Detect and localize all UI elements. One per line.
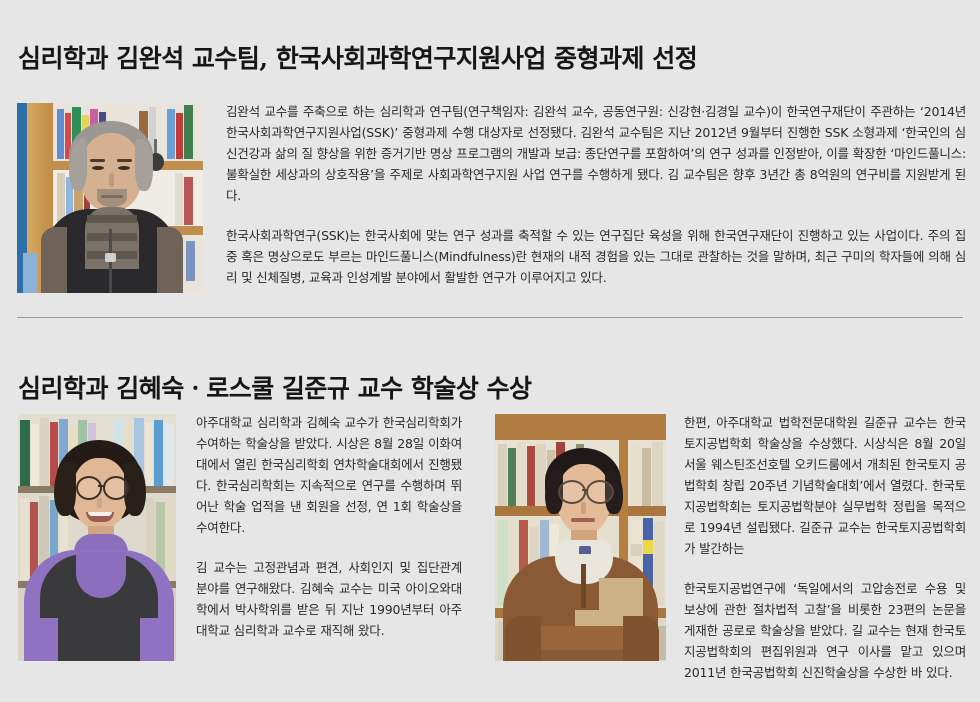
article-2-right-paragraph-2: 한국토지공법연구에 ‘독일에서의 고압송전로 수용 및 보상에 관한 절차법적 … bbox=[684, 578, 966, 683]
article-1-headline: 심리학과 김완석 교수팀, 한국사회과학연구지원사업 중형과제 선정 bbox=[18, 39, 697, 75]
article-2-left-photo bbox=[18, 414, 176, 661]
portrait-scene-3 bbox=[495, 414, 666, 661]
article-2-left-column: 아주대학교 심리학과 김혜숙 교수가 한국심리학회가 수여하는 학술상을 받았다… bbox=[196, 412, 462, 660]
article-2-right-photo bbox=[495, 414, 666, 661]
article-1-paragraph-1: 김완석 교수를 주축으로 하는 심리학과 연구팀(연구책임자: 김완석 교수, … bbox=[226, 101, 966, 206]
news-page: 심리학과 김완석 교수팀, 한국사회과학연구지원사업 중형과제 선정 bbox=[0, 0, 980, 665]
article-2-right-column: 한편, 아주대학교 법학전문대학원 길준규 교수는 한국토지공법학회 학술상을 … bbox=[684, 412, 966, 702]
portrait-scene-1 bbox=[17, 103, 203, 293]
article-2-left-paragraph-2: 김 교수는 고정관념과 편견, 사회인지 및 집단관계 분야를 연구해왔다. 김… bbox=[196, 557, 462, 641]
section-divider bbox=[17, 317, 963, 318]
article-2-left-paragraph-1: 아주대학교 심리학과 김혜숙 교수가 한국심리학회가 수여하는 학술상을 받았다… bbox=[196, 412, 462, 538]
article-1-body: 김완석 교수를 주축으로 하는 심리학과 연구팀(연구책임자: 김완석 교수, … bbox=[226, 101, 966, 307]
article-2-headline: 심리학과 김혜숙ㆍ로스쿨 길준규 교수 학술상 수상 bbox=[18, 369, 532, 405]
article-2-right-paragraph-1: 한편, 아주대학교 법학전문대학원 길준규 교수는 한국토지공법학회 학술상을 … bbox=[684, 412, 966, 559]
article-1-paragraph-2: 한국사회과학연구(SSK)는 한국사회에 맞는 연구 성과를 축적할 수 있는 … bbox=[226, 225, 966, 288]
portrait-scene-2 bbox=[18, 414, 176, 661]
article-1-photo bbox=[17, 103, 203, 293]
